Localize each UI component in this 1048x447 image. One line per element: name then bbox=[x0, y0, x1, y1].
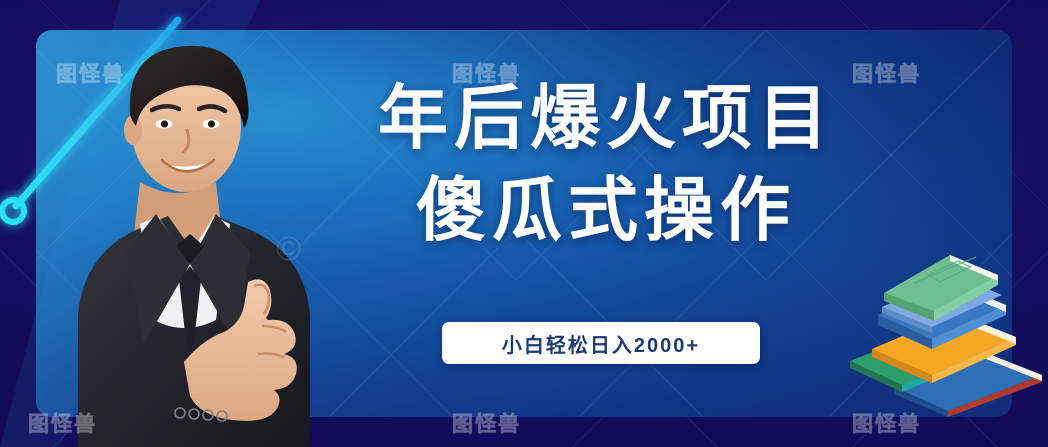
subtitle-pill[interactable]: 小白轻松日入2000+ bbox=[442, 322, 760, 364]
subtitle-text: 小白轻松日入2000+ bbox=[502, 329, 700, 358]
book-stack-illustration bbox=[836, 249, 1046, 419]
headline-line-1: 年后爆火项目 bbox=[378, 79, 834, 157]
page-title: 年后爆火项目 傻瓜式操作 bbox=[296, 72, 916, 256]
headline-line-2: 傻瓜式操作 bbox=[296, 164, 916, 256]
poster-canvas: 年后爆火项目 傻瓜式操作 小白轻松日入2000+ bbox=[0, 0, 1048, 447]
businessman-thumbs-up-photo bbox=[40, 14, 330, 447]
